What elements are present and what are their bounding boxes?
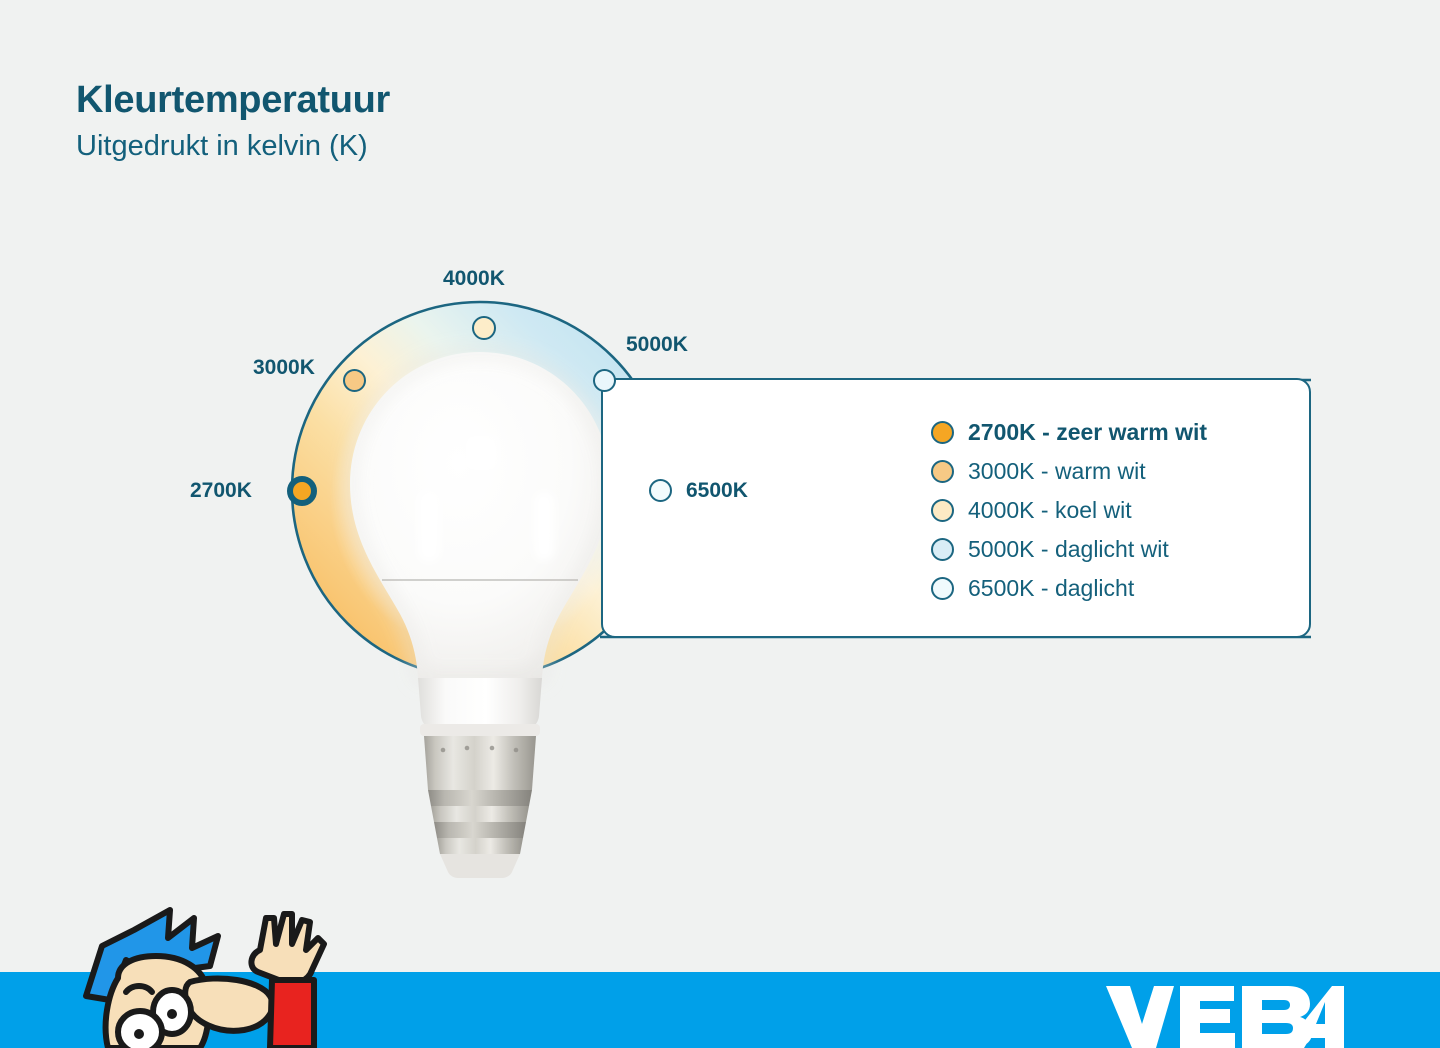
- mascot-character: [22, 904, 362, 1048]
- bulb-collar: [420, 724, 540, 736]
- ring-marker-3000k[interactable]: [343, 369, 366, 392]
- ring-marker-label-5000k: 5000K: [626, 333, 688, 357]
- legend-dot-2700k: [931, 421, 954, 444]
- legend-dot-3000k: [931, 460, 954, 483]
- weba-logo: [1104, 980, 1344, 1048]
- legend-label-4000k: 4000K - koel wit: [968, 497, 1132, 524]
- ring-marker-5000k[interactable]: [593, 369, 616, 392]
- legend-item-2700k[interactable]: 2700K - zeer warm wit: [931, 413, 1207, 452]
- ring-marker-label-3000k: 3000K: [253, 356, 315, 380]
- bulb-neck: [418, 678, 542, 730]
- legend-label-2700k: 2700K - zeer warm wit: [968, 419, 1207, 446]
- legend-dot-6500k: [931, 577, 954, 600]
- mascot-nose: [185, 978, 272, 1030]
- legend-label-6500k: 6500K - daglicht: [968, 575, 1134, 602]
- legend-item-5000k[interactable]: 5000K - daglicht wit: [931, 530, 1207, 569]
- ring-marker-4000k[interactable]: [472, 316, 496, 340]
- bulb-highlight-top: [466, 436, 498, 470]
- ring-marker-2700k[interactable]: [287, 476, 317, 506]
- legend-list: 2700K - zeer warm wit 3000K - warm wit 4…: [931, 413, 1207, 608]
- bulb-screw-threads: [428, 790, 532, 854]
- ring-marker-label-6500k: 6500K: [686, 479, 748, 503]
- legend-dot-5000k: [931, 538, 954, 561]
- legend-item-3000k[interactable]: 3000K - warm wit: [931, 452, 1207, 491]
- bulb-highlight-right: [534, 492, 554, 560]
- legend-item-4000k[interactable]: 4000K - koel wit: [931, 491, 1207, 530]
- bulb-highlight-left: [418, 490, 440, 562]
- bulb-metal-cap: [424, 736, 536, 790]
- legend-label-5000k: 5000K - daglicht wit: [968, 536, 1169, 563]
- legend-panel: 2700K - zeer warm wit 3000K - warm wit 4…: [601, 378, 1311, 638]
- legend-label-3000k: 3000K - warm wit: [968, 458, 1146, 485]
- ring-marker-6500k[interactable]: [649, 479, 672, 502]
- color-temperature-diagram: 2700K 3000K 4000K 5000K 6500K 2700K - ze…: [0, 0, 1440, 972]
- ring-marker-label-4000k: 4000K: [443, 267, 505, 291]
- legend-dot-4000k: [931, 499, 954, 522]
- bulb-tip: [440, 854, 520, 878]
- legend-item-6500k[interactable]: 6500K - daglicht: [931, 569, 1207, 608]
- mascot-waving-hand: [251, 914, 324, 1048]
- ring-marker-label-2700k: 2700K: [190, 479, 252, 503]
